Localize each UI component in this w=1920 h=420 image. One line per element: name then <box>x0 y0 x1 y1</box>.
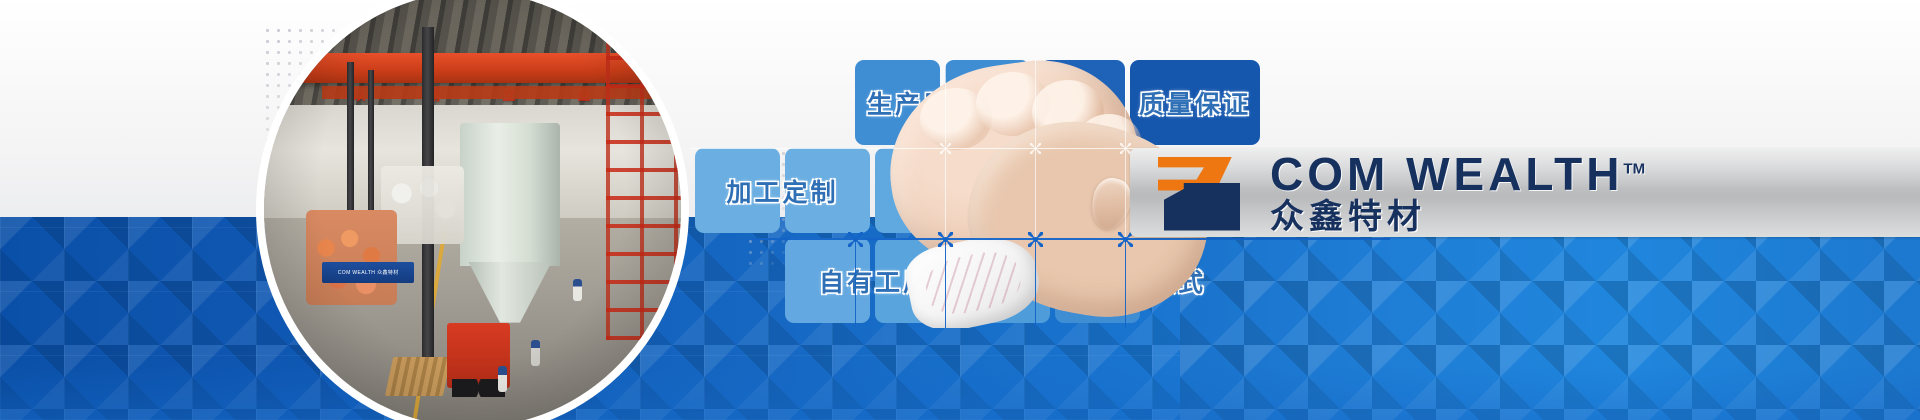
trademark-symbol: TM <box>1623 161 1645 178</box>
company-name-cn: 众鑫特材 <box>1270 200 1645 234</box>
tile-customization[interactable]: 加工定制 <box>695 148 870 233</box>
promo-banner: 以 精 立 业 COM WEALTH 众鑫特材 <box>0 0 1920 420</box>
company-name-en: COM WEALTHTM <box>1270 151 1645 197</box>
factory-photo-frame: 以 精 立 业 COM WEALTH 众鑫特材 <box>260 0 685 420</box>
factory-interior-photo: 以 精 立 业 COM WEALTH 众鑫特材 <box>264 0 681 420</box>
company-logo-plate[interactable]: COM WEALTHTM 众鑫特材 <box>1130 148 1920 237</box>
company-logo-icon <box>1152 155 1244 231</box>
